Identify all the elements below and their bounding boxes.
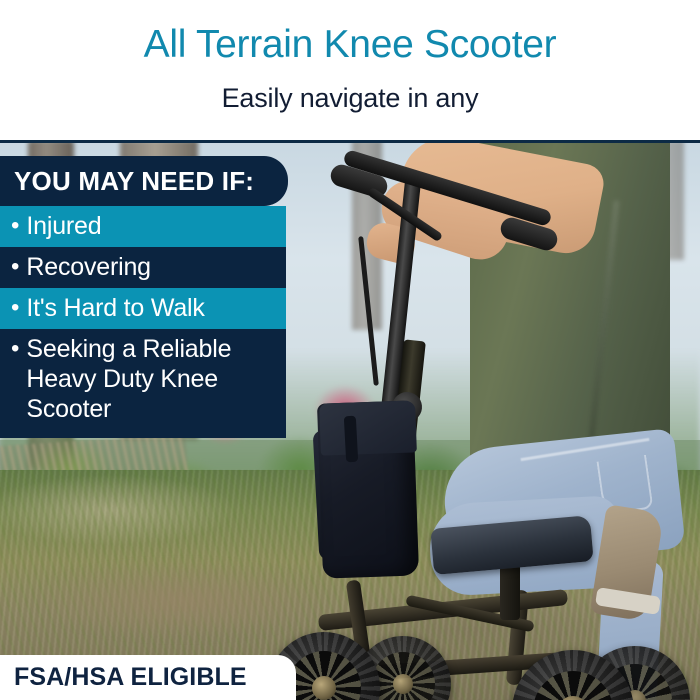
bullet-icon: • [11, 211, 19, 241]
header-area: All Terrain Knee Scooter Easily navigate… [0, 0, 700, 140]
panel-heading: YOU MAY NEED IF: [0, 156, 288, 206]
storage-bag-strap [344, 416, 358, 463]
fsa-hsa-badge-label: FSA/HSA ELIGIBLE [14, 663, 247, 692]
list-item: • Recovering [0, 247, 286, 288]
poster-image: All Terrain Knee Scooter Easily navigate… [0, 0, 700, 700]
bullet-icon: • [11, 293, 19, 323]
bullet-icon: • [11, 334, 19, 364]
photo-top-divider [0, 140, 700, 143]
you-may-need-panel: YOU MAY NEED IF: • Injured • Recovering … [0, 156, 300, 438]
bullet-icon: • [11, 252, 19, 282]
knee-pad [430, 515, 593, 575]
list-item: • Seeking a Reliable Heavy Duty Knee Sco… [0, 329, 286, 438]
fsa-hsa-badge: FSA/HSA ELIGIBLE [0, 655, 296, 700]
brake-cable [358, 236, 379, 386]
storage-bag-flap [319, 400, 417, 455]
page-title: All Terrain Knee Scooter [0, 22, 700, 68]
list-item-label: Seeking a Reliable Heavy Duty Knee Scoot… [26, 334, 274, 424]
list-item: • It's Hard to Walk [0, 288, 286, 329]
wheel-hub [312, 676, 336, 700]
panel-heading-text: YOU MAY NEED IF: [14, 167, 254, 195]
wheel-hub [393, 674, 413, 694]
list-item: • Injured [0, 206, 286, 247]
page-subtitle: Easily navigate in any [0, 82, 700, 115]
list-item-label: Injured [26, 211, 101, 241]
list-item-label: It's Hard to Walk [26, 293, 204, 323]
list-item-label: Recovering [26, 252, 150, 282]
knee-pad-post [500, 564, 520, 620]
